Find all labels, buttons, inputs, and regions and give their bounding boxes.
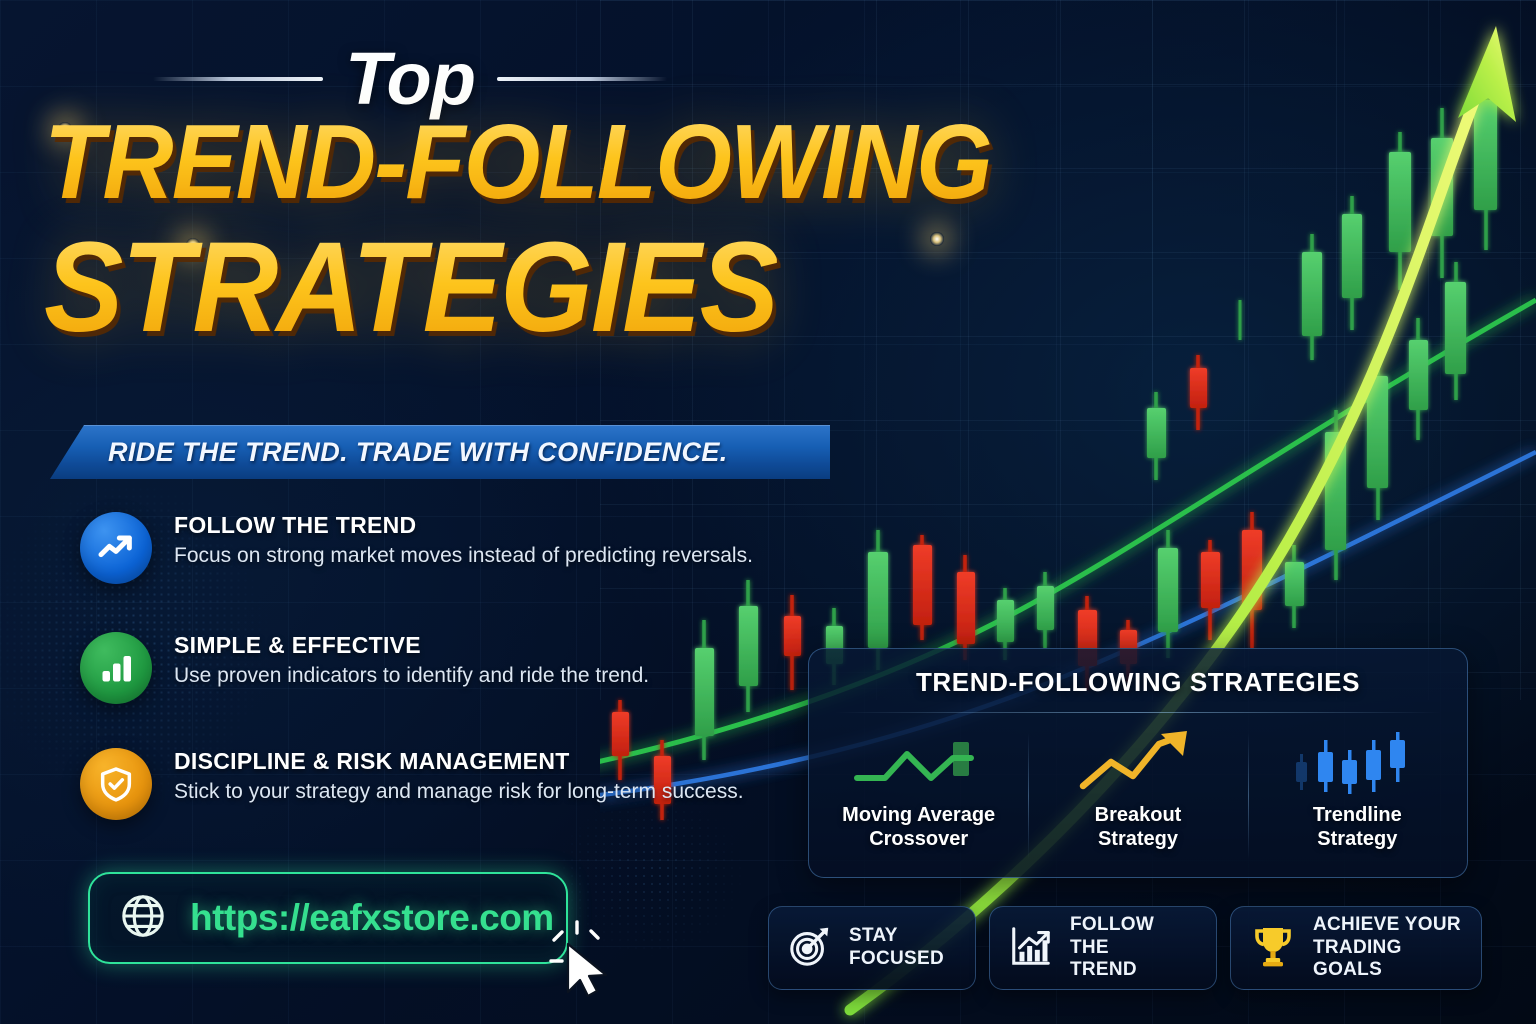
globe-icon <box>118 891 168 946</box>
badge-line1: FOLLOW THE <box>1070 914 1198 960</box>
bottom-badge-bar: STAY FOCUSED FOLLOW THE TREND <box>768 906 1476 990</box>
subtitle-ribbon: RIDE THE TREND. TRADE WITH CONFIDENCE. <box>50 425 830 479</box>
strategy-label-line2: Crossover <box>842 827 995 851</box>
feature-body: Use proven indicators to identify and ri… <box>174 663 649 689</box>
badge-line1: STAY <box>849 925 944 948</box>
strategies-panel: TREND-FOLLOWING STRATEGIES Moving Averag… <box>808 648 1468 878</box>
strategy-label-line1: Breakout <box>1095 803 1182 827</box>
strategy-breakout[interactable]: Breakout Strategy <box>1028 721 1247 873</box>
feature-simple-effective: SIMPLE & EFFECTIVE Use proven indicators… <box>80 632 649 704</box>
strategies-panel-title: TREND-FOLLOWING STRATEGIES <box>809 667 1467 698</box>
trophy-icon <box>1249 922 1297 975</box>
decorative-line-left <box>153 77 323 81</box>
growth-chart-icon <box>1008 923 1054 974</box>
shield-check-icon <box>80 748 152 820</box>
mouse-pointer-click-icon <box>548 918 618 998</box>
badge-follow-the-trend[interactable]: FOLLOW THE TREND <box>989 906 1217 990</box>
decorative-line-right <box>497 77 667 81</box>
sparkle-right <box>930 232 944 246</box>
title-line-1: TREND-FOLLOWING <box>44 116 991 209</box>
feature-body: Focus on strong market moves instead of … <box>174 543 753 569</box>
feature-heading: DISCIPLINE & RISK MANAGEMENT <box>174 748 744 775</box>
badge-line2: FOCUSED <box>849 948 944 971</box>
website-url-box[interactable]: https://eafxstore.com <box>88 872 568 964</box>
title-line-2: STRATEGIES <box>44 232 777 345</box>
feature-body: Stick to your strategy and manage risk f… <box>174 779 744 805</box>
strategy-label-line2: Strategy <box>1313 827 1402 851</box>
website-url-text: https://eafxstore.com <box>190 897 554 939</box>
feature-heading: FOLLOW THE TREND <box>174 512 753 539</box>
strategy-label-line1: Moving Average <box>842 803 995 827</box>
strategy-label-line1: Trendline <box>1313 803 1402 827</box>
strategy-moving-average-crossover[interactable]: Moving Average Crossover <box>809 721 1028 873</box>
feature-heading: SIMPLE & EFFECTIVE <box>174 632 649 659</box>
candlestick-icon <box>1292 727 1422 799</box>
badge-stay-focused[interactable]: STAY FOCUSED <box>768 906 976 990</box>
badge-line2: TREND <box>1070 959 1198 982</box>
target-dart-icon <box>787 923 833 974</box>
badge-line1: ACHIEVE YOUR <box>1313 914 1463 937</box>
badge-achieve-goals[interactable]: ACHIEVE YOUR TRADING GOALS <box>1230 906 1482 990</box>
strategy-label-line2: Strategy <box>1095 827 1182 851</box>
trending-up-icon <box>80 512 152 584</box>
subtitle-text: RIDE THE TREND. TRADE WITH CONFIDENCE. <box>108 437 728 468</box>
infographic-canvas: UPTREND 50 EMA 200 EMA Top TREND-FOLLOWI… <box>0 0 1536 1024</box>
badge-line2: TRADING GOALS <box>1313 937 1463 983</box>
strategy-trendline[interactable]: Trendline Strategy <box>1248 721 1467 873</box>
zigzag-line-icon <box>849 727 989 799</box>
feature-discipline-risk: DISCIPLINE & RISK MANAGEMENT Stick to yo… <box>80 748 744 820</box>
panel-divider <box>835 712 1441 713</box>
bar-chart-icon <box>80 632 152 704</box>
feature-follow-the-trend: FOLLOW THE TREND Focus on strong market … <box>80 512 753 584</box>
up-arrow-zigzag-icon <box>1073 727 1203 799</box>
